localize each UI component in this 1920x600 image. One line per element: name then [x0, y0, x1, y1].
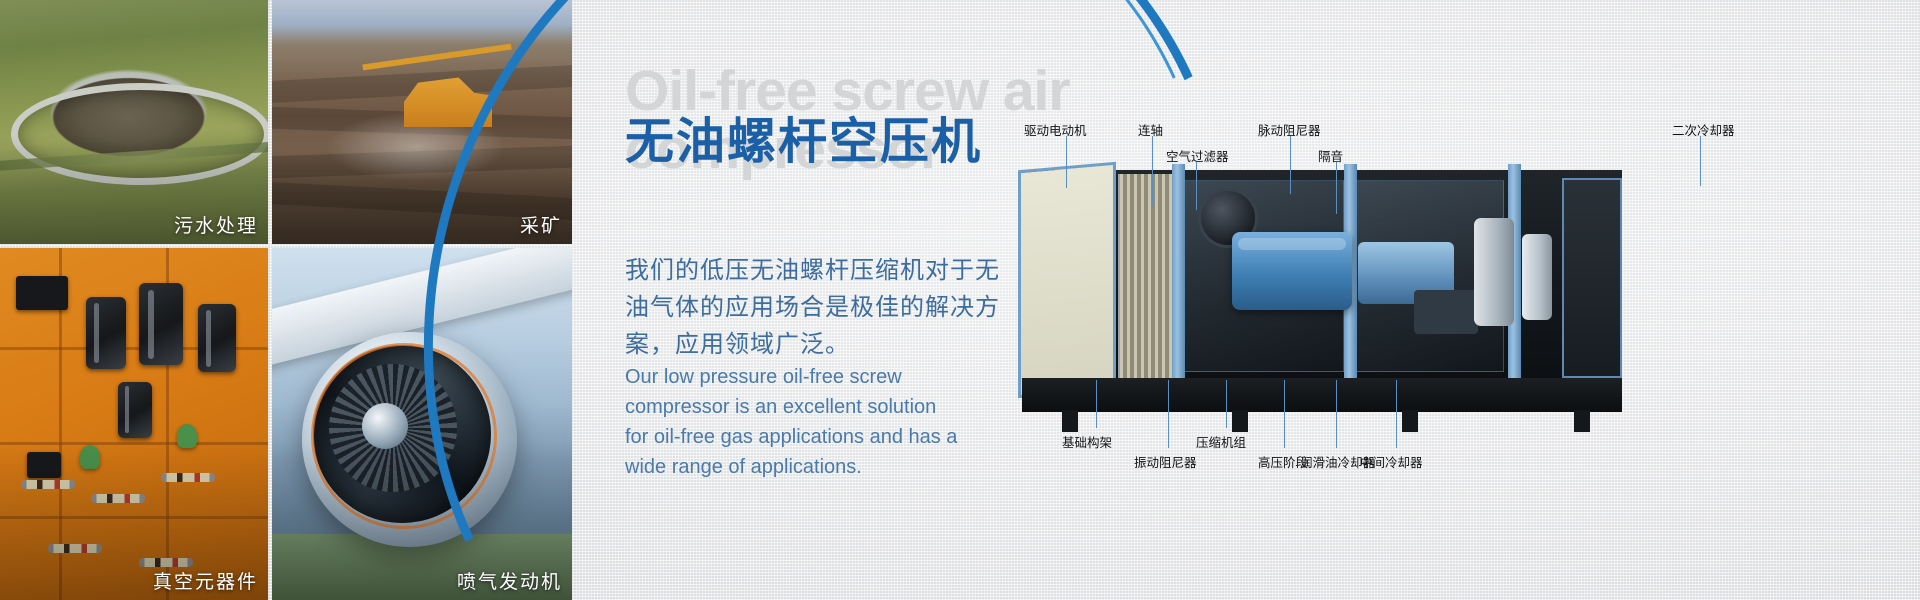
leader-line: [1152, 136, 1153, 206]
compressor-diagram: 驱动电动机 连轴 脉动阻尼器 二次冷却器 空气过滤器 隔音 基础构架 压缩机组 …: [1000, 0, 1920, 600]
photo-caption: 真空元器件: [153, 567, 258, 594]
leader-line: [1168, 380, 1169, 448]
label-sound-insulation: 隔音: [1318, 146, 1343, 165]
label-air-filter: 空气过滤器: [1166, 146, 1229, 165]
leader-line: [1226, 380, 1227, 428]
photo-vacuum-components: 真空元器件: [0, 248, 268, 600]
photo-jet-engine: 喷气发动机: [272, 248, 572, 600]
leader-line: [1396, 380, 1397, 448]
photo-caption: 采矿: [520, 211, 562, 238]
leader-line: [1700, 136, 1701, 186]
label-compressor-unit: 压缩机组: [1196, 432, 1246, 451]
photo-shade: [0, 248, 268, 600]
leader-line: [1196, 162, 1197, 210]
photo-shade: [0, 0, 268, 244]
product-banner: 污水处理 采矿: [0, 0, 1920, 600]
label-coupling: 连轴: [1138, 120, 1163, 139]
photo-mining: 采矿: [272, 0, 572, 244]
label-vibration-damper: 振动阻尼器: [1134, 452, 1197, 471]
photo-shade: [272, 248, 572, 600]
compressor-unit-illustration: [1022, 170, 1622, 380]
leader-line: [1096, 380, 1097, 428]
photo-caption: 喷气发动机: [457, 567, 562, 594]
label-aftercooler: 二次冷却器: [1672, 120, 1735, 139]
leader-line: [1066, 136, 1067, 188]
label-base-frame: 基础构架: [1062, 432, 1112, 451]
leader-line: [1336, 380, 1337, 448]
photo-wastewater-treatment: 污水处理: [0, 0, 268, 244]
description-chinese: 我们的低压无油螺杆压缩机对于无油气体的应用场合是极佳的解决方案，应用领域广泛。: [625, 252, 1007, 363]
label-intercooler: 中间冷却器: [1360, 452, 1423, 471]
label-high-pressure-stage: 高压阶段: [1258, 452, 1308, 471]
description-english: Our low pressure oil-free screw compress…: [625, 362, 965, 482]
leader-line: [1284, 380, 1285, 448]
photo-caption: 污水处理: [174, 211, 258, 238]
label-drive-motor: 驱动电动机: [1024, 120, 1087, 139]
page-title: 无油螺杆空压机: [625, 114, 982, 170]
photo-shade: [272, 0, 572, 244]
leader-line: [1290, 136, 1291, 194]
leader-line: [1336, 162, 1337, 214]
application-photo-collage: 污水处理 采矿: [0, 0, 600, 600]
